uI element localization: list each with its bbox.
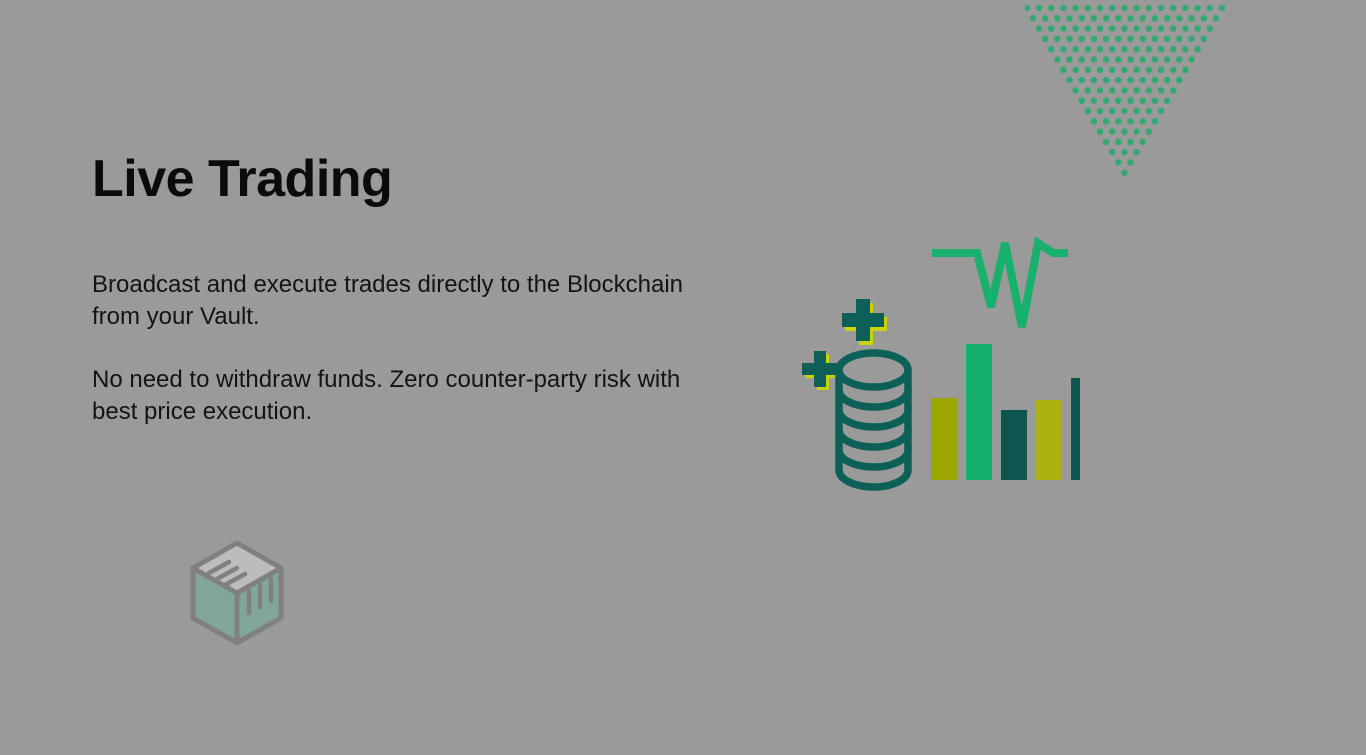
slide-canvas: Live Trading Broadcast and execute trade… bbox=[0, 0, 1366, 755]
trading-illustration bbox=[780, 235, 1080, 493]
body-paragraph-2: No need to withdraw funds. Zero counter-… bbox=[92, 364, 692, 428]
body-paragraph-1: Broadcast and execute trades directly to… bbox=[92, 269, 692, 333]
bar-4 bbox=[1036, 400, 1062, 480]
bar-3 bbox=[1001, 410, 1027, 480]
coin-stack-icon bbox=[839, 353, 908, 487]
inverted-triangle-dot-pattern bbox=[1025, 0, 1230, 180]
bar-2 bbox=[966, 344, 992, 480]
plus-sparkle-small-icon bbox=[802, 351, 841, 390]
bar-1 bbox=[931, 398, 957, 480]
plus-sparkle-large-icon bbox=[842, 299, 887, 345]
isometric-cube-icon bbox=[187, 539, 287, 647]
volatility-line-chart bbox=[932, 243, 1068, 327]
bar-chart bbox=[931, 344, 1080, 480]
bar-5 bbox=[1071, 378, 1080, 480]
page-title: Live Trading bbox=[92, 152, 712, 207]
text-block: Live Trading Broadcast and execute trade… bbox=[92, 152, 712, 207]
